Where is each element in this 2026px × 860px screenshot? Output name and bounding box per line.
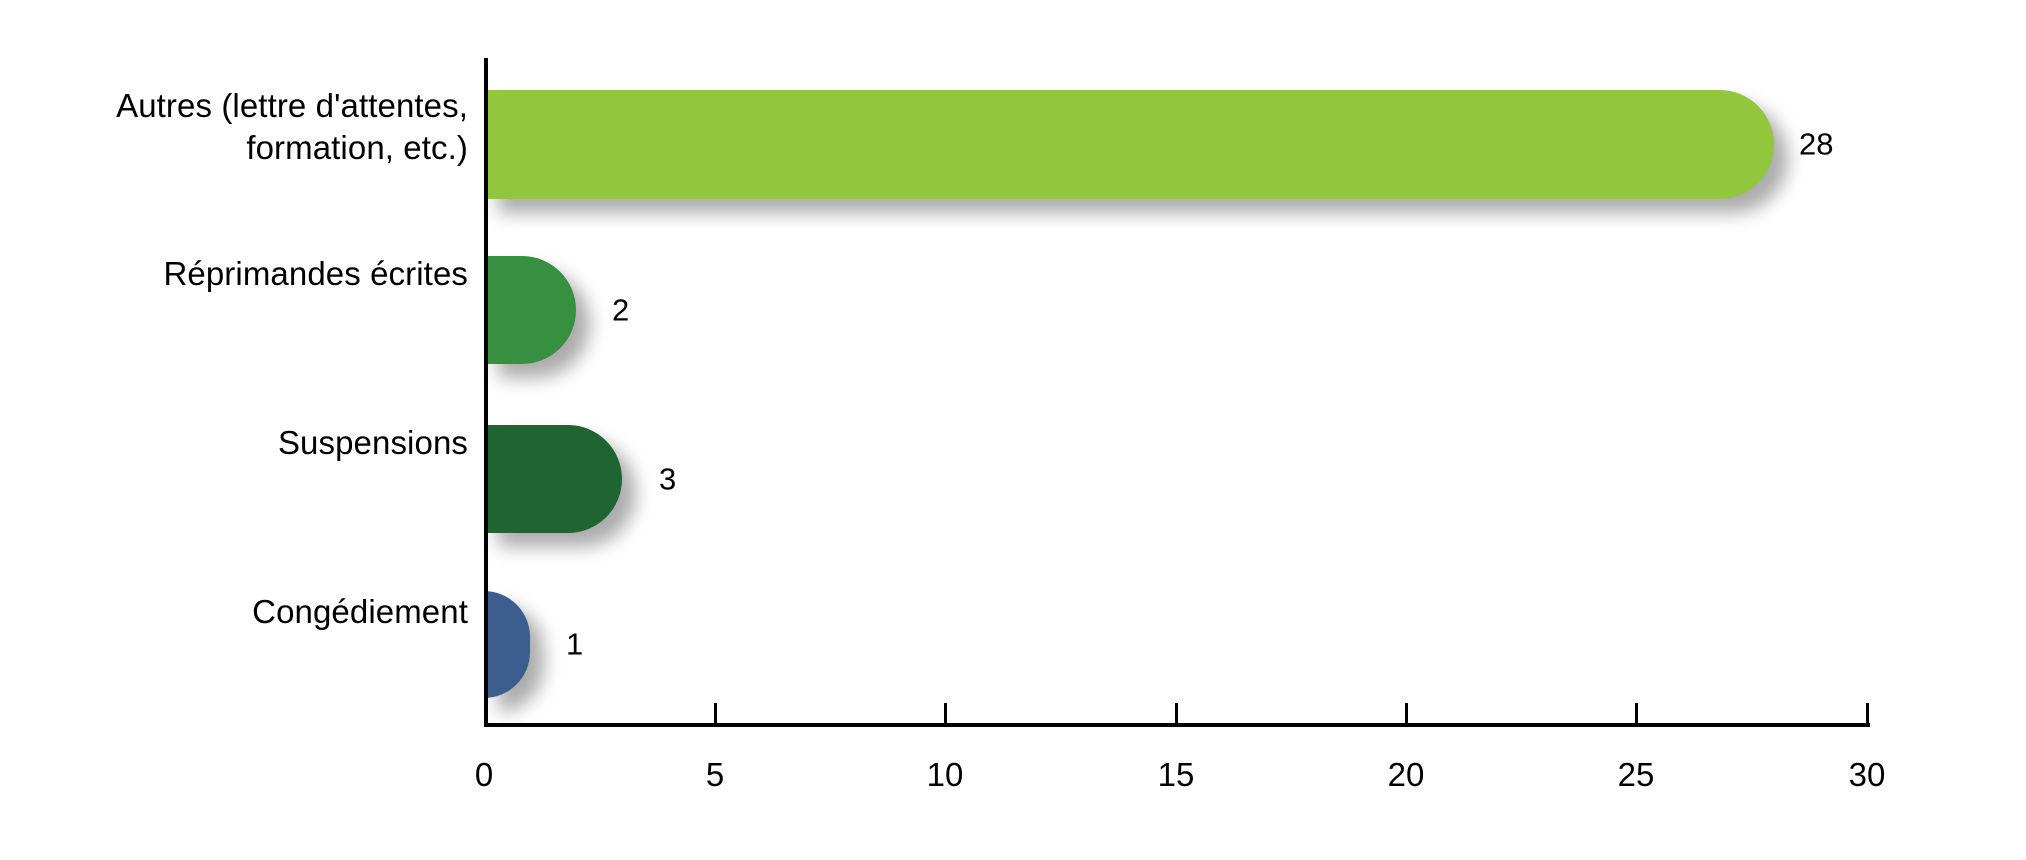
bar-value-reprimandes-ecrites: 2 <box>612 295 629 326</box>
x-tick-label-30: 30 <box>1849 758 1886 791</box>
category-label-autres: Autres (lettre d'attentes, formation, et… <box>116 85 468 169</box>
x-tick-label-5: 5 <box>706 758 724 791</box>
x-tick-mark-30 <box>1866 703 1869 723</box>
bar-congediement[interactable] <box>484 591 530 698</box>
x-tick-label-25: 25 <box>1618 758 1655 791</box>
x-tick-label-0: 0 <box>475 758 493 791</box>
bar-suspensions[interactable] <box>484 425 622 533</box>
category-label-reprimandes-ecrites: Réprimandes écrites <box>163 253 468 295</box>
x-tick-mark-25 <box>1635 703 1638 723</box>
x-axis-line <box>484 723 1870 727</box>
category-label-suspensions: Suspensions <box>278 422 468 464</box>
x-tick-label-10: 10 <box>927 758 964 791</box>
x-tick-mark-5 <box>714 703 717 723</box>
bar-value-suspensions: 3 <box>659 464 676 495</box>
category-label-congediement: Congédiement <box>252 591 468 633</box>
x-tick-label-15: 15 <box>1158 758 1195 791</box>
x-tick-mark-15 <box>1175 703 1178 723</box>
bar-autres[interactable] <box>484 90 1774 199</box>
x-tick-label-20: 20 <box>1388 758 1425 791</box>
plot-area: 28 2 3 1 0 5 10 15 20 25 30 <box>484 58 1866 723</box>
bar-value-congediement: 1 <box>566 629 583 660</box>
bar-reprimandes-ecrites[interactable] <box>484 256 576 364</box>
bar-value-autres: 28 <box>1799 129 1833 160</box>
bar-chart: Autres (lettre d'attentes, formation, et… <box>0 0 2026 860</box>
y-axis-line <box>484 58 488 723</box>
x-tick-mark-10 <box>944 703 947 723</box>
x-tick-mark-0 <box>484 703 487 723</box>
x-tick-mark-20 <box>1405 703 1408 723</box>
